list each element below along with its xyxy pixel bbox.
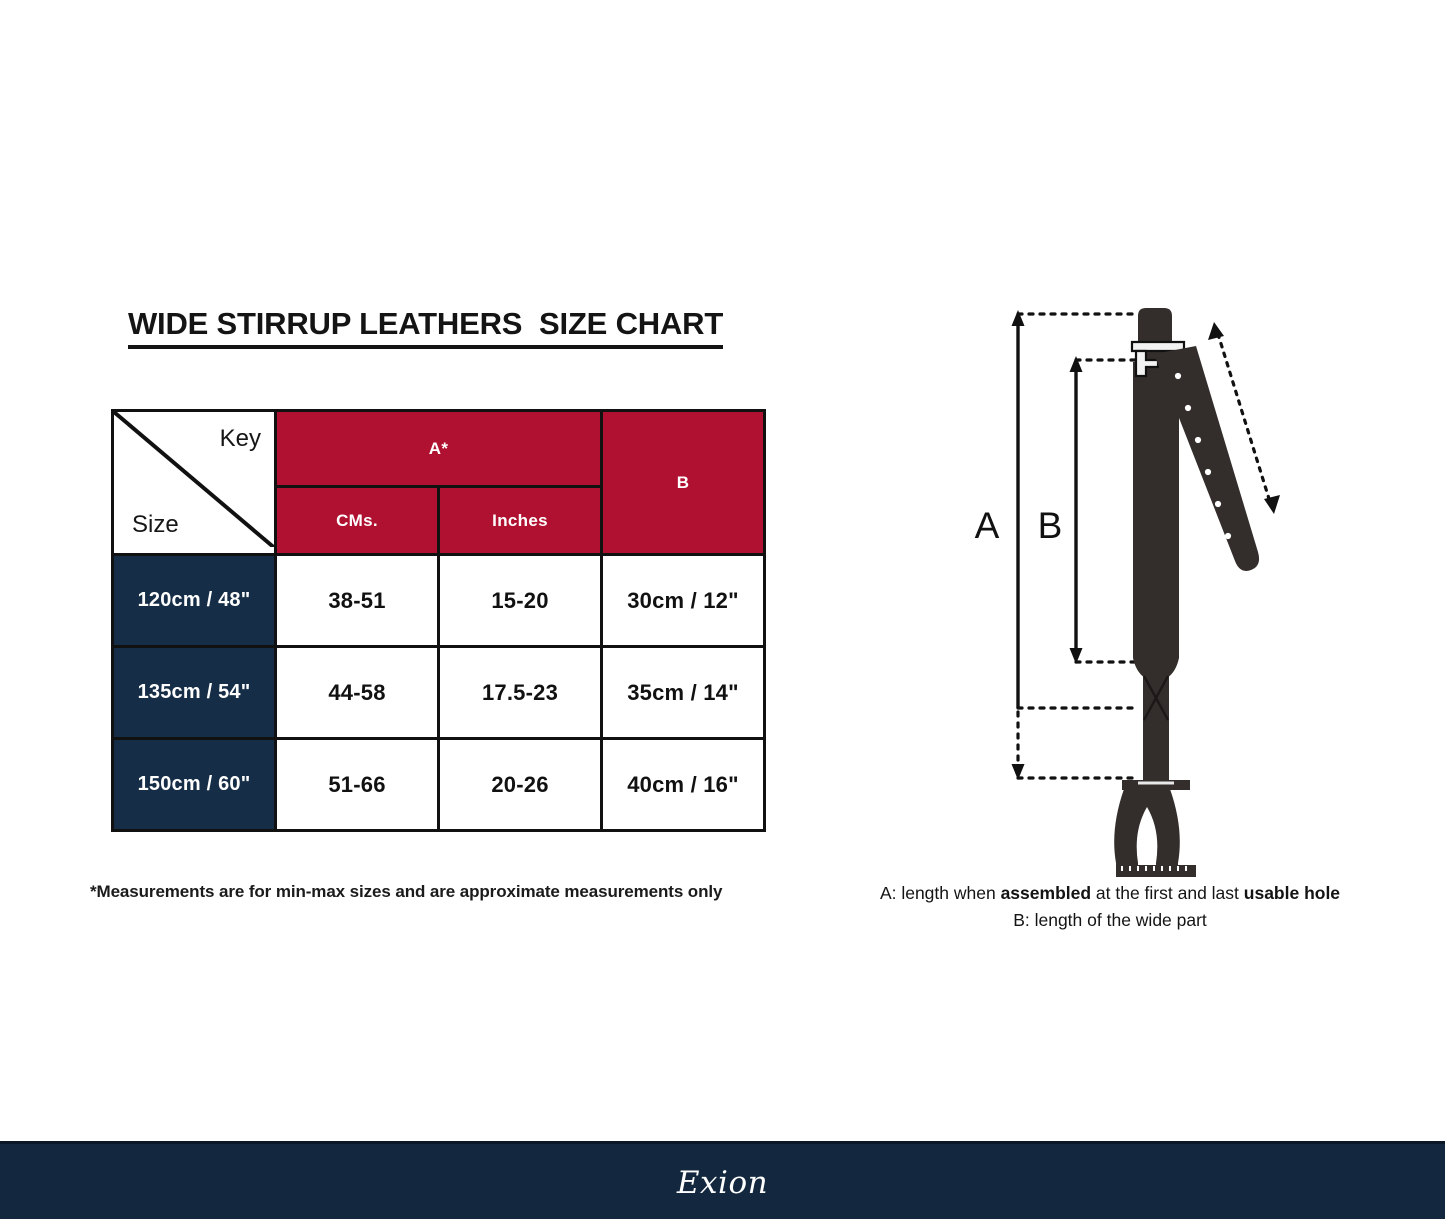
row-a-inches: 20-26 [439,739,602,831]
header-cms: CMs. [276,487,439,555]
legend-a-bold-assembled: assembled [1001,883,1091,903]
row-a-inches: 15-20 [439,555,602,647]
stirrup-leather-diagram: A B [940,280,1300,880]
strap-wide-part [1133,362,1179,678]
buckle-bar [1132,342,1184,351]
row-size-label: 135cm / 54" [113,647,276,739]
header-group-b: B [602,411,765,555]
table-row: 150cm / 60" 51-66 20-26 40cm / 16" [113,739,765,831]
dimension-b-top-arrowhead [1070,356,1083,372]
stirrup-tread [1116,865,1196,877]
legend-line-b: B: length of the wide part [840,907,1380,934]
diagram-label-a: A [975,505,1000,546]
size-table: Key Size A* B CMs. Inches 120cm / 48" 38… [111,409,766,832]
legend-a-mid: at the first and last [1091,883,1244,903]
row-a-cms: 51-66 [276,739,439,831]
corner-size-label: Size [132,511,179,539]
diagram-label-b: B [1038,505,1063,546]
footer-bar: Exion [0,1141,1445,1219]
header-inches: Inches [439,487,602,555]
adjustment-arrow-head-bottom [1264,495,1280,514]
row-a-cms: 38-51 [276,555,439,647]
measurements-footnote: *Measurements are for min-max sizes and … [90,882,722,902]
stirrup-iron-icon [1114,780,1196,877]
row-b-value: 35cm / 14" [602,647,765,739]
size-chart-page: WIDE STIRRUP LEATHERS SIZE CHART Key Siz… [0,0,1445,1219]
row-size-label: 150cm / 60" [113,739,276,831]
corner-key-label: Key [220,425,261,453]
adjustment-arrow-head-top [1208,322,1224,340]
table-row: 120cm / 48" 38-51 15-20 30cm / 12" [113,555,765,647]
legend-a-bold-usable-hole: usable hole [1244,883,1340,903]
table-header-row-group: Key Size A* B [113,411,765,487]
dimension-a-top-arrowhead [1012,310,1025,326]
strap-narrow-shaft [1143,674,1169,782]
brand-logo: Exion [0,1144,1445,1219]
row-b-value: 30cm / 12" [602,555,765,647]
table-row: 135cm / 54" 44-58 17.5-23 35cm / 14" [113,647,765,739]
dimension-b-group [1070,356,1141,664]
header-group-a: A* [276,411,602,487]
corner-key-size-cell: Key Size [113,411,276,555]
stirrup-arch [1114,789,1180,875]
legend-a-pre: A: length when [880,883,1001,903]
diagram-legend: A: length when assembled at the first an… [840,880,1380,933]
row-a-cms: 44-58 [276,647,439,739]
dimension-a-group [1012,310,1137,780]
size-table-container: Key Size A* B CMs. Inches 120cm / 48" 38… [111,409,763,832]
row-a-inches: 17.5-23 [439,647,602,739]
page-title: WIDE STIRRUP LEATHERS SIZE CHART [128,308,723,349]
legend-line-a: A: length when assembled at the first an… [840,880,1380,907]
diagram-svg: A B [940,280,1300,880]
row-b-value: 40cm / 16" [602,739,765,831]
row-size-label: 120cm / 48" [113,555,276,647]
